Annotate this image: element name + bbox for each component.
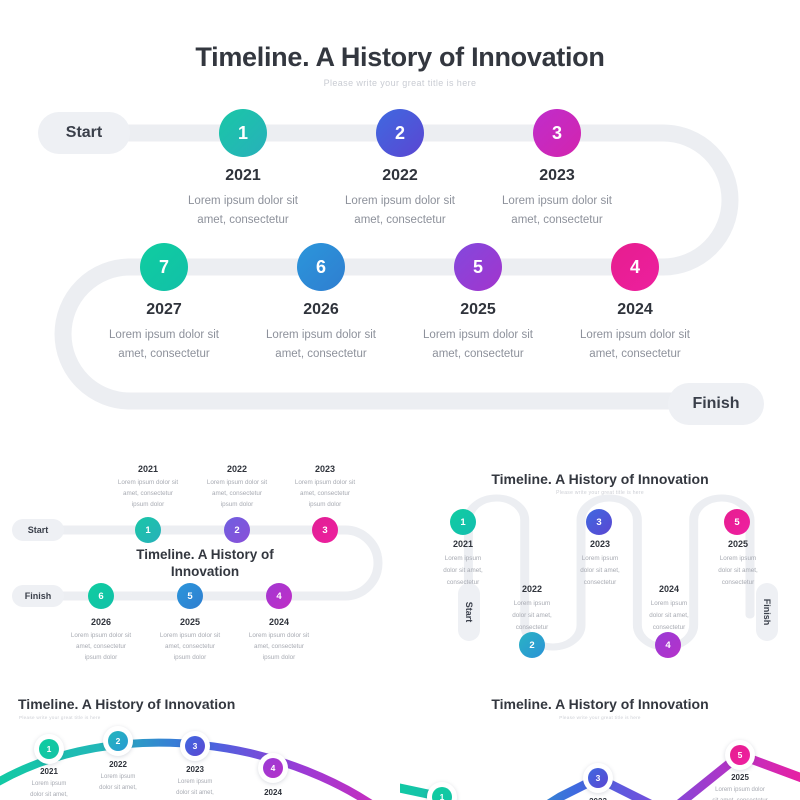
page-subtitle: Please write your great title is here: [0, 78, 800, 88]
node-desc-line2: dolor sit amet,: [150, 788, 240, 799]
node-number: 2: [234, 525, 239, 536]
bottom-left-timeline: Timeline. A History of Innovation Please…: [0, 685, 400, 800]
node-number: 4: [263, 758, 283, 778]
node-year: 2023: [150, 765, 240, 774]
node-desc-line1: Lorem ipsum: [477, 598, 587, 610]
timeline-label-3: 2023 Lorem ipsum dolor sit amet, consect…: [462, 167, 652, 230]
mini-timeline-right: Timeline. A History of Innovation Please…: [400, 455, 800, 675]
node-number: 1: [460, 517, 465, 528]
node-desc-line1: Lorem ipsum: [150, 777, 240, 788]
mini-right-node-5[interactable]: 5: [724, 509, 750, 535]
node-number: 2: [395, 123, 405, 144]
finish-pill[interactable]: Finish: [668, 383, 764, 425]
node-desc-line2: dolor sit amet,: [545, 565, 655, 577]
node-number: 6: [98, 591, 103, 602]
timeline-node-6[interactable]: 6: [297, 243, 345, 291]
mini-right-node-3[interactable]: 3: [586, 509, 612, 535]
node-desc-line3: ipsum dolor: [270, 499, 380, 510]
bottom-left-label-4: 2024 Lorem ipsum dolor sit amet,: [228, 788, 318, 800]
node-number: 4: [276, 591, 281, 602]
node-desc-line1: Lorem ipsum: [545, 553, 655, 565]
mini-left-node-6[interactable]: 6: [88, 583, 114, 609]
node-year: 2021: [408, 539, 518, 549]
node-number: 3: [552, 123, 562, 144]
node-number: 1: [39, 739, 59, 759]
node-desc-line2: sit amet, consectetur: [695, 796, 785, 800]
node-number: 3: [322, 525, 327, 536]
node-desc-line2: amet, consectetur: [462, 211, 652, 230]
mini-right-label-1: 2021 Lorem ipsum dolor sit amet, consect…: [408, 539, 518, 589]
node-desc-line1: Lorem ipsum: [408, 553, 518, 565]
node-year: 2024: [540, 301, 730, 319]
node-desc-line3: ipsum dolor: [224, 652, 334, 663]
node-year: 2025: [695, 773, 785, 782]
bottom-left-node-2[interactable]: 2: [103, 726, 133, 756]
node-number: 3: [588, 768, 608, 788]
node-desc-line2: dolor sit amet,: [408, 565, 518, 577]
node-desc-line3: consectetur: [683, 577, 793, 589]
bottom-left-label-3: 2023 Lorem ipsum dolor sit amet,: [150, 765, 240, 799]
timeline-node-1[interactable]: 1: [219, 109, 267, 157]
node-number: 1: [238, 123, 248, 144]
node-number: 4: [630, 257, 640, 278]
timeline-node-2[interactable]: 2: [376, 109, 424, 157]
node-desc-line1: Lorem ipsum dolor sit: [270, 477, 380, 488]
mini-right-label-2: 2022 Lorem ipsum dolor sit amet, consect…: [477, 584, 587, 634]
page-title: Timeline. A History of Innovation: [0, 42, 800, 73]
node-number: 7: [159, 257, 169, 278]
node-number: 3: [596, 517, 601, 528]
mini-left-node-3[interactable]: 3: [312, 517, 338, 543]
node-desc-line2: amet, consectetur: [224, 641, 334, 652]
bottom-right-timeline: Timeline. A History of Innovation Please…: [400, 685, 800, 800]
node-desc-line2: amet, consectetur: [540, 345, 730, 364]
node-desc-line1: Lorem ipsum: [614, 598, 724, 610]
node-number: 2: [108, 731, 128, 751]
start-label: Start: [464, 602, 474, 623]
node-desc-line2: dolor sit amet,: [614, 610, 724, 622]
timeline-node-3[interactable]: 3: [533, 109, 581, 157]
node-desc-line2: dolor sit amet,: [477, 610, 587, 622]
node-number: 2: [529, 640, 534, 651]
start-pill[interactable]: Start: [38, 112, 130, 154]
node-number: 5: [473, 257, 483, 278]
node-number: 5: [730, 745, 750, 765]
mini-left-node-1[interactable]: 1: [135, 517, 161, 543]
node-desc-line3: consectetur: [614, 622, 724, 634]
finish-label: Finish: [762, 599, 772, 626]
node-desc-line2: dolor sit amet,: [683, 565, 793, 577]
node-number: 6: [316, 257, 326, 278]
mini-right-label-4: 2024 Lorem ipsum dolor sit amet, consect…: [614, 584, 724, 634]
mini-left-node-2[interactable]: 2: [224, 517, 250, 543]
node-desc-line1: Lorem ipsum: [683, 553, 793, 565]
node-number: 5: [187, 591, 192, 602]
timeline-node-4[interactable]: 4: [611, 243, 659, 291]
node-year: 2023: [462, 167, 652, 185]
node-number: 1: [432, 787, 452, 800]
bottom-left-node-1[interactable]: 1: [34, 734, 64, 764]
node-desc-line2: amet, consectetur: [270, 488, 380, 499]
timeline-label-4: 2024 Lorem ipsum dolor sit amet, consect…: [540, 301, 730, 364]
node-number: 3: [185, 736, 205, 756]
node-year: 2023: [270, 464, 380, 474]
node-number: 1: [145, 525, 150, 536]
mini-left-start-pill[interactable]: Start: [12, 519, 64, 541]
mini-right-label-3: 2023 Lorem ipsum dolor sit amet, consect…: [545, 539, 655, 589]
mini-timeline-left: Start Finish Timeline. A History of Inno…: [0, 455, 400, 675]
bottom-right-node-5[interactable]: 5: [725, 740, 755, 770]
mini-left-finish-pill[interactable]: Finish: [12, 585, 64, 607]
node-desc-line1: Lorem ipsum dolor sit: [224, 630, 334, 641]
node-year: 2025: [683, 539, 793, 549]
mini-left-label-3: 2023 Lorem ipsum dolor sit amet, consect…: [270, 464, 380, 510]
node-number: 4: [665, 640, 670, 651]
node-desc-line1: Lorem ipsum dolor sit: [540, 326, 730, 345]
mini-right-finish-pill[interactable]: Finish: [756, 583, 778, 641]
bottom-left-node-3[interactable]: 3: [180, 731, 210, 761]
bottom-right-label-5: 2025 Lorem ipsum dolor sit amet, consect…: [695, 773, 785, 800]
node-year: 2024: [228, 788, 318, 797]
timeline-infographic-page: Timeline. A History of Innovation Please…: [0, 0, 800, 800]
timeline-node-7[interactable]: 7: [140, 243, 188, 291]
mini-right-node-4[interactable]: 4: [655, 632, 681, 658]
mini-left-label-4: 2024 Lorem ipsum dolor sit amet, consect…: [224, 617, 334, 663]
node-desc-line1: Lorem ipsum dolor: [695, 785, 785, 796]
mini-right-node-1[interactable]: 1: [450, 509, 476, 535]
mini-right-node-2[interactable]: 2: [519, 632, 545, 658]
node-desc-line1: Lorem ipsum dolor sit: [462, 192, 652, 211]
mini-left-node-4[interactable]: 4: [266, 583, 292, 609]
node-desc-line3: consectetur: [477, 622, 587, 634]
bottom-right-node-3[interactable]: 3: [583, 763, 613, 793]
mini-left-title: Timeline. A History of Innovation: [105, 547, 305, 581]
node-year: 2024: [224, 617, 334, 627]
bottom-left-node-4[interactable]: 4: [258, 753, 288, 783]
mini-right-label-5: 2025 Lorem ipsum dolor sit amet, consect…: [683, 539, 793, 589]
node-year: 2023: [545, 539, 655, 549]
node-number: 5: [734, 517, 739, 528]
timeline-node-5[interactable]: 5: [454, 243, 502, 291]
mini-left-node-5[interactable]: 5: [177, 583, 203, 609]
